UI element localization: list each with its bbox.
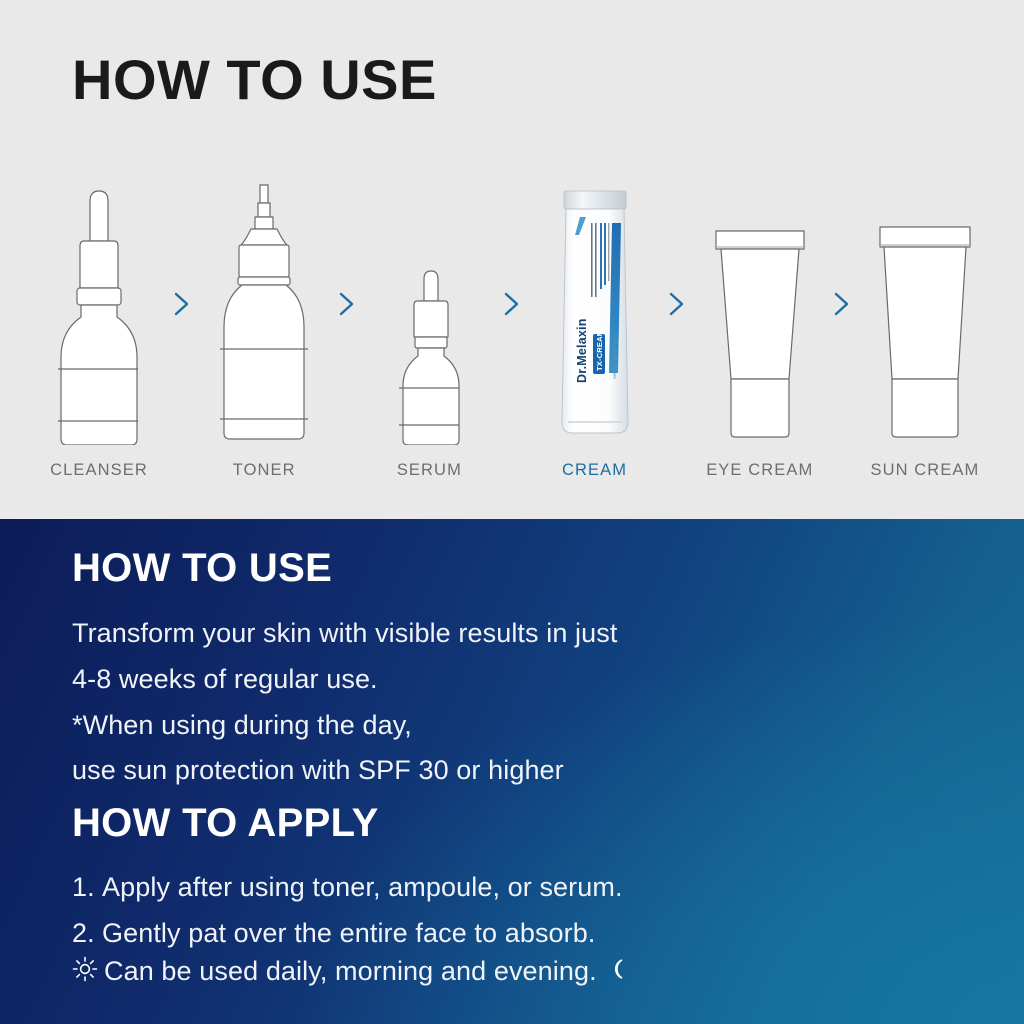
use-line-3: *When using during the day, <box>72 712 412 739</box>
how-to-use-heading: HOW TO USE <box>72 548 332 588</box>
step-label-cream: CREAM <box>562 461 627 480</box>
step-arrow-1-icon <box>169 180 195 480</box>
svg-text:net wt. 50g (1.76 oz.): net wt. 50g (1.76 oz.) <box>612 335 617 379</box>
apply-step-1: 1.Apply after using toner, ampoule, or s… <box>72 874 623 901</box>
routine-step-toner[interactable]: TONER <box>205 180 323 480</box>
svg-text:TX-CREAM: TX-CREAM <box>595 330 604 371</box>
sun-icon <box>72 956 98 987</box>
step-label-cleanser: CLEANSER <box>50 461 148 480</box>
routine-step-eye-cream[interactable]: EYE CREAM <box>701 180 819 480</box>
use-line-2: 4-8 weeks of regular use. <box>72 666 378 693</box>
apply-step-1-number: 1. <box>72 874 102 901</box>
cleanser-bottle-illustration <box>40 183 158 445</box>
apply-step-2: 2.Gently pat over the entire face to abs… <box>72 920 595 947</box>
step-label-serum: SERUM <box>397 461 462 480</box>
product-tube-illustration: Dr.Melaxin TX-CREAM net wt. 50g (1.76 oz… <box>536 183 654 445</box>
step-label-toner: TONER <box>233 461 296 480</box>
routine-step-sun-cream[interactable]: SUN CREAM <box>866 180 984 480</box>
sun-cream-tube-illustration <box>866 183 984 445</box>
routine-step-cleanser[interactable]: CLEANSER <box>40 180 158 480</box>
svg-text:Dr.Melaxin: Dr.Melaxin <box>575 318 589 383</box>
step-arrow-4-icon <box>664 180 690 480</box>
page-title: HOW TO USE <box>72 52 437 108</box>
routine-step-cream[interactable]: Dr.Melaxin TX-CREAM net wt. 50g (1.76 oz… <box>536 180 654 480</box>
eye-cream-tube-illustration <box>701 183 819 445</box>
use-line-4: use sun protection with SPF 30 or higher <box>72 757 564 784</box>
apply-step-2-number: 2. <box>72 920 102 947</box>
use-line-1: Transform your skin with visible results… <box>72 620 617 647</box>
step-arrow-3-icon <box>499 180 525 480</box>
serum-bottle-illustration <box>370 183 488 445</box>
how-to-apply-heading: HOW TO APPLY <box>72 803 379 843</box>
routine-step-serum[interactable]: SERUM <box>370 180 488 480</box>
toner-bottle-illustration <box>205 183 323 445</box>
daily-usage-text: Can be used daily, morning and evening. <box>104 958 597 985</box>
step-label-sun-cream: SUN CREAM <box>870 461 979 480</box>
step-arrow-5-icon <box>829 180 855 480</box>
apply-step-2-text: Gently pat over the entire face to absor… <box>102 918 595 948</box>
how-to-use-top-section: HOW TO USE CLEANSER <box>0 0 1024 519</box>
step-label-eye-cream: EYE CREAM <box>706 461 813 480</box>
routine-step-sequence: CLEANSER <box>40 160 984 480</box>
apply-step-1-text: Apply after using toner, ampoule, or ser… <box>102 872 623 902</box>
daily-usage-note: Can be used daily, morning and evening. <box>72 956 628 987</box>
moon-icon <box>604 957 628 986</box>
step-arrow-2-icon <box>334 180 360 480</box>
